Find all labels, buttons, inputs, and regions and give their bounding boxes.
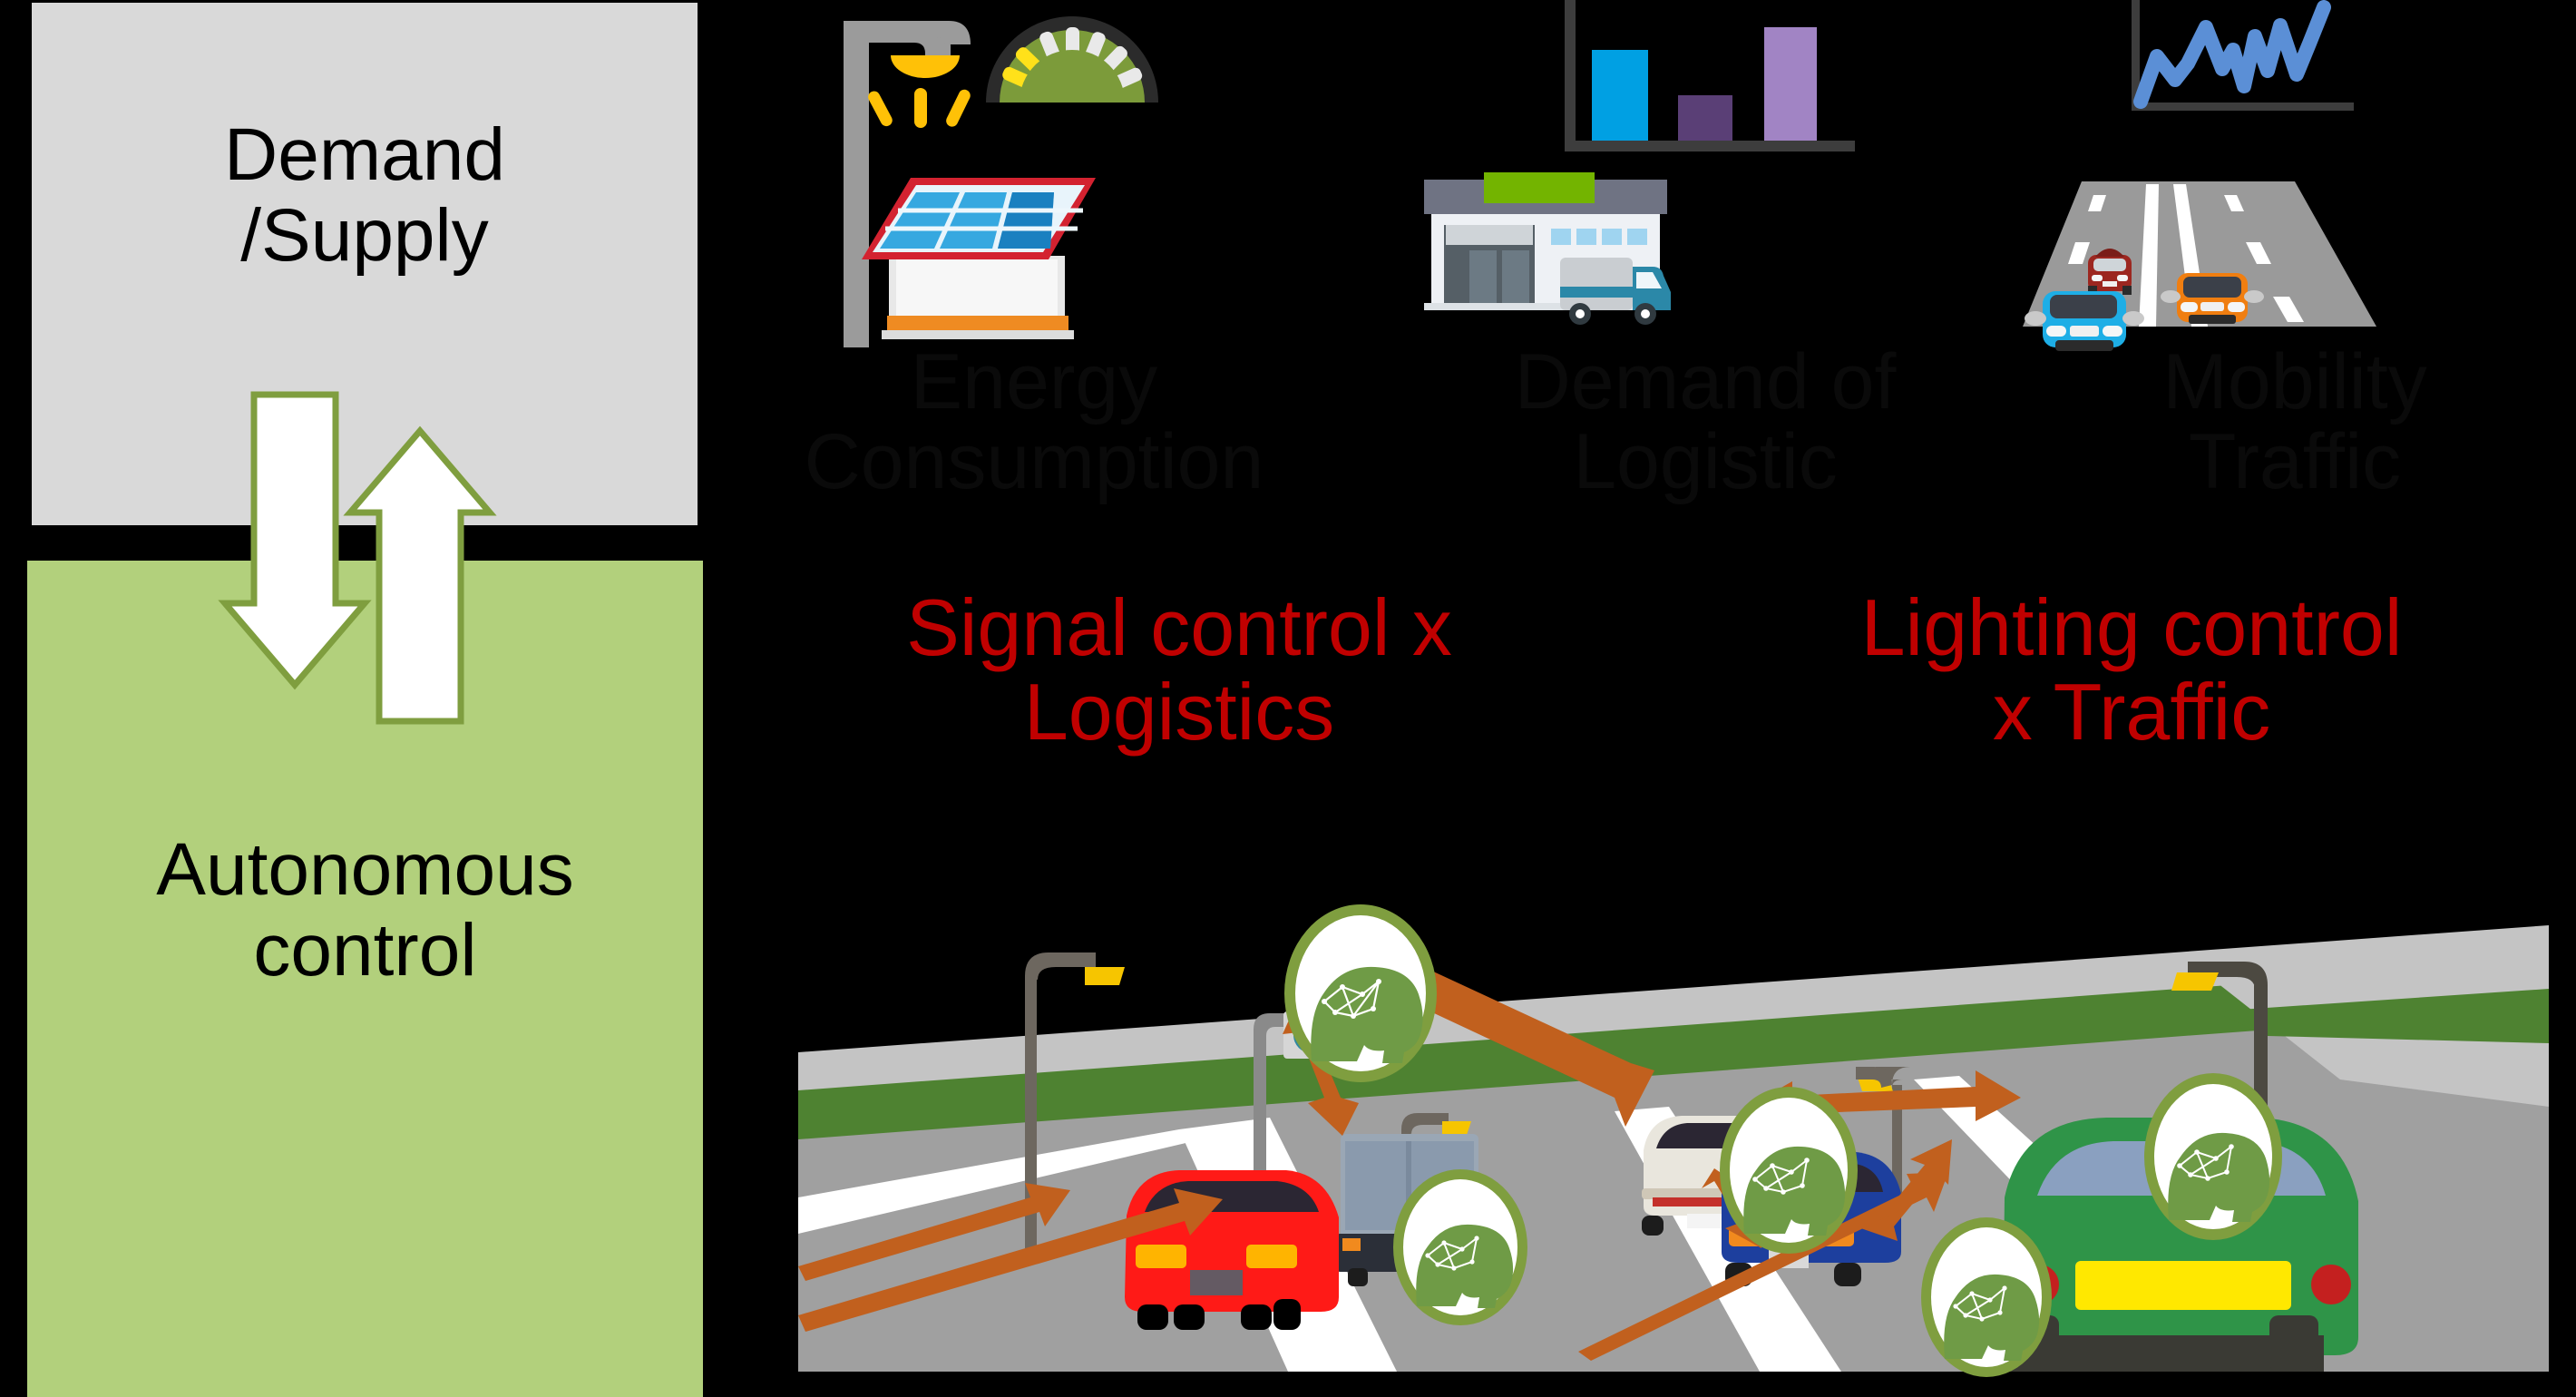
brain-badge-truck xyxy=(1393,1169,1527,1325)
logistics-demand-label: Demand of Logistic xyxy=(1424,343,1986,502)
autonomous-line1: Autonomous xyxy=(156,830,573,911)
mobility-label-line1: Mobility xyxy=(2023,343,2567,423)
energy-label-line2: Consumption xyxy=(780,423,1288,503)
solar-house-icon xyxy=(862,172,1098,340)
lighting-heading-line1: Lighting control xyxy=(1705,585,2558,669)
warehouse-icon xyxy=(1424,172,1732,340)
logistics-icon-column: Demand of Logistic xyxy=(1424,0,1986,544)
line-chart-icon xyxy=(2132,0,2367,113)
autonomous-line2: control xyxy=(156,911,573,992)
bar-3 xyxy=(1764,27,1817,141)
delivery-truck-icon xyxy=(1560,258,1671,325)
bar-1 xyxy=(1592,50,1648,141)
autonomous-road-scene xyxy=(798,925,2549,1372)
signal-heading-line2: Logistics xyxy=(753,669,1605,754)
brain-badge-1 xyxy=(1284,904,1437,1082)
mobility-label-line2: Traffic xyxy=(2023,423,2567,503)
demand-supply-line1: Demand xyxy=(224,115,505,196)
car-dark-red xyxy=(2088,249,2132,295)
signal-control-logistics-heading: Signal control x Logistics xyxy=(753,585,1605,755)
signal-heading-line1: Signal control x xyxy=(753,585,1605,669)
lighting-heading-line2: x Traffic xyxy=(1705,669,2558,754)
supply-demand-flow-arrows xyxy=(218,395,517,721)
energy-label-line1: Energy xyxy=(780,343,1288,423)
mobility-icon-column: Mobility Traffic xyxy=(2023,0,2567,544)
demand-down-arrow xyxy=(225,395,365,685)
demand-supply-line2: /Supply xyxy=(224,196,505,277)
logistics-label-line2: Logistic xyxy=(1424,423,1986,503)
lighting-control-traffic-heading: Lighting control x Traffic xyxy=(1705,585,2558,755)
brain-badge-lower xyxy=(1921,1217,2052,1377)
highway-cars-icon xyxy=(2023,141,2386,331)
mobility-traffic-label: Mobility Traffic xyxy=(2023,343,2567,502)
brain-badge-2 xyxy=(1720,1087,1858,1254)
red-car xyxy=(1125,1170,1339,1330)
energy-consumption-label: Energy Consumption xyxy=(780,343,1288,502)
slide-canvas: Demand /Supply Autonomous control xyxy=(0,0,2576,1397)
bar-2 xyxy=(1678,95,1732,141)
bar-chart-icon xyxy=(1565,0,1855,154)
gauge-icon xyxy=(981,7,1163,107)
supply-up-arrow xyxy=(350,431,490,721)
brain-badge-3 xyxy=(2144,1073,2282,1240)
logistics-label-line1: Demand of xyxy=(1424,343,1986,423)
energy-icon-column: Energy Consumption xyxy=(780,0,1288,544)
